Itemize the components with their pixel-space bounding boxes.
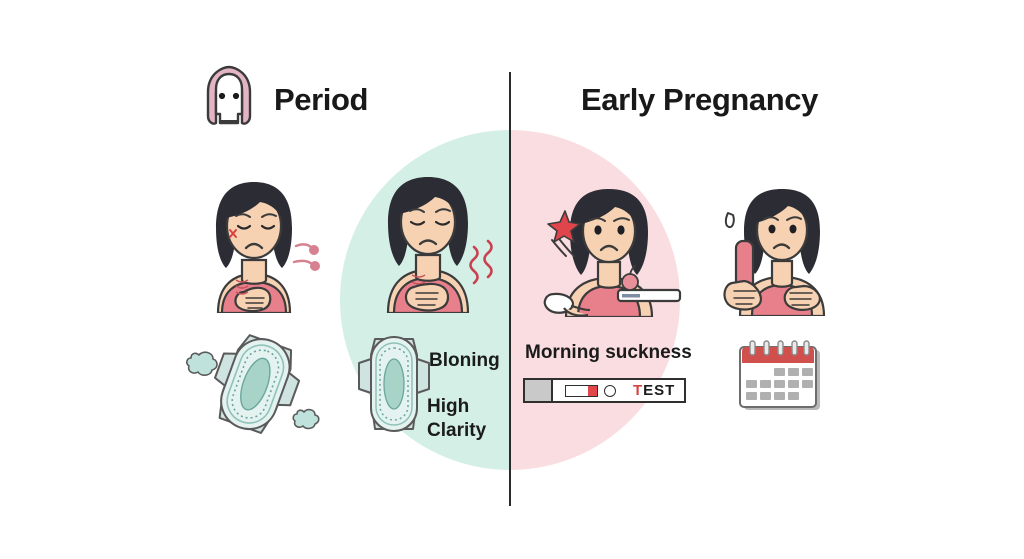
woman-holding-test-illustration [712,183,852,316]
test-strip-label: TEST [633,382,675,399]
heading-period: Period [274,82,368,118]
test-word-rest: EST [643,382,675,399]
calendar-icon [736,339,824,415]
period-face-logo-icon [192,62,266,136]
heading-early-pregnancy: Early Pregnancy [581,82,818,118]
test-word-first-letter: T [633,382,643,399]
test-strip-cap [525,380,553,401]
test-strip-result-window [565,385,598,397]
high-clarity-label: High Clarity [427,395,486,444]
vertical-divider [509,72,511,506]
woman-chest-pain-inside-illustration [352,165,504,313]
sanitary-pad-outside-icon [185,330,325,440]
sanitary-pad-inside-icon [355,333,433,435]
bloating-label: Bloning [429,349,500,373]
infographic-canvas: Period Early Pregnancy [0,0,1024,559]
pregnancy-test-strip: TEST [523,378,686,403]
test-strip-result-bar [588,386,597,396]
morning-sickness-label: Morning suckness [525,341,692,365]
test-strip-sample-well [604,385,616,397]
woman-chest-pain-outside-illustration [178,168,330,313]
woman-morning-sickness-illustration [534,182,684,317]
